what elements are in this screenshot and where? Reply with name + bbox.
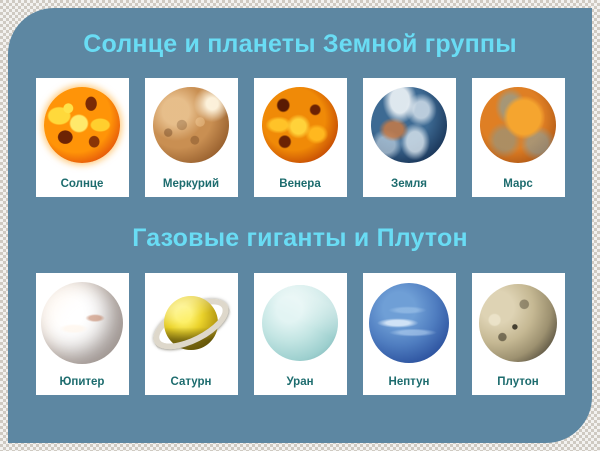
earth-orb-icon: [368, 84, 450, 166]
planet-label: Сатурн: [171, 376, 212, 388]
planet-label: Юпитер: [60, 376, 105, 388]
planet-label: Солнце: [61, 178, 104, 190]
planet-card-saturn[interactable]: Сатурн: [145, 273, 238, 395]
planet-label: Марс: [503, 178, 533, 190]
neptune-orb-icon: [366, 279, 452, 367]
saturn-orb-icon: [148, 279, 234, 367]
planet-card-mercury[interactable]: Меркурий: [145, 78, 238, 197]
planet-card-neptune[interactable]: Нептун: [363, 273, 456, 395]
section-title-gas-giants: Газовые гиганты и Плутон: [8, 224, 592, 253]
planet-row-gas-giants: Юпитер Сатурн Уран Нептун: [8, 273, 592, 395]
mercury-orb-icon: [150, 84, 232, 166]
planet-card-pluto[interactable]: Плутон: [472, 273, 565, 395]
planet-label: Уран: [286, 376, 313, 388]
planet-card-earth[interactable]: Земля: [363, 78, 456, 197]
mars-orb-icon: [477, 84, 559, 166]
uranus-orb-icon: [257, 279, 343, 367]
planet-label: Плутон: [497, 376, 538, 388]
planet-label: Нептун: [389, 376, 430, 388]
planet-card-mars[interactable]: Марс: [472, 78, 565, 197]
slide-panel: Солнце и планеты Земной группы Солнце Ме…: [8, 8, 592, 443]
sun-orb-icon: [41, 84, 123, 166]
planet-card-venus[interactable]: Венера: [254, 78, 347, 197]
planet-card-jupiter[interactable]: Юпитер: [36, 273, 129, 395]
planet-label: Земля: [391, 178, 427, 190]
planet-label: Меркурий: [163, 178, 219, 190]
planet-card-sun[interactable]: Солнце: [36, 78, 129, 197]
planet-row-terrestrial: Солнце Меркурий Венера Земля Марс: [8, 78, 592, 197]
section-title-terrestrial: Солнце и планеты Земной группы: [8, 30, 592, 59]
jupiter-orb-icon: [39, 279, 125, 367]
venus-orb-icon: [259, 84, 341, 166]
pluto-orb-icon: [475, 279, 561, 367]
planet-label: Венера: [279, 178, 320, 190]
planet-card-uranus[interactable]: Уран: [254, 273, 347, 395]
